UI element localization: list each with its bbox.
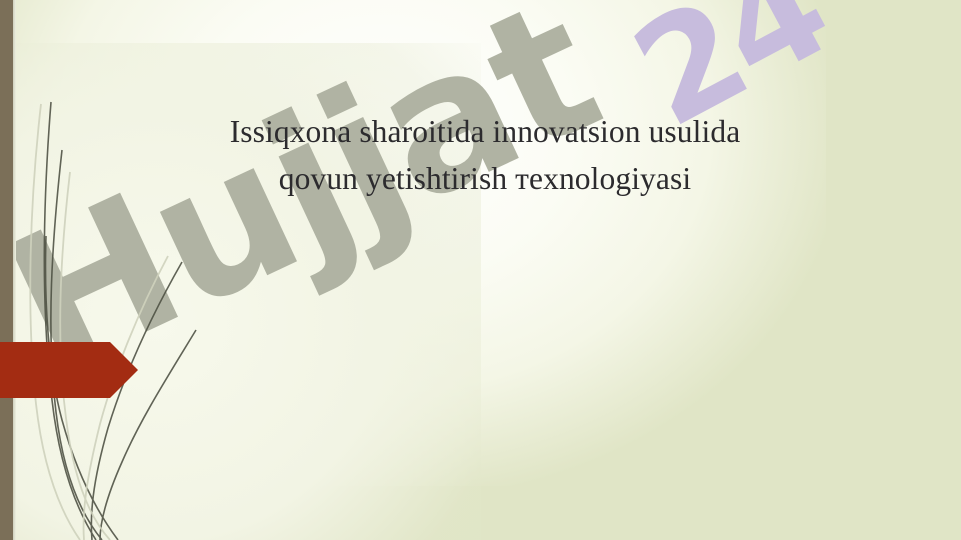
left-vertical-band [0,0,13,540]
left-band-edge [13,0,16,540]
title-line-1: Issiqxona sharoitida innovatsion usulida [120,108,850,155]
presentation-slide: Hujjat 24 Issiqxona sharoitida innovatsi… [0,0,961,540]
title-line-2: qovun yetishtirish тexnologiyasi [120,155,850,202]
red-arrow-banner [0,342,138,398]
slide-title: Issiqxona sharoitida innovatsion usulida… [120,108,850,202]
